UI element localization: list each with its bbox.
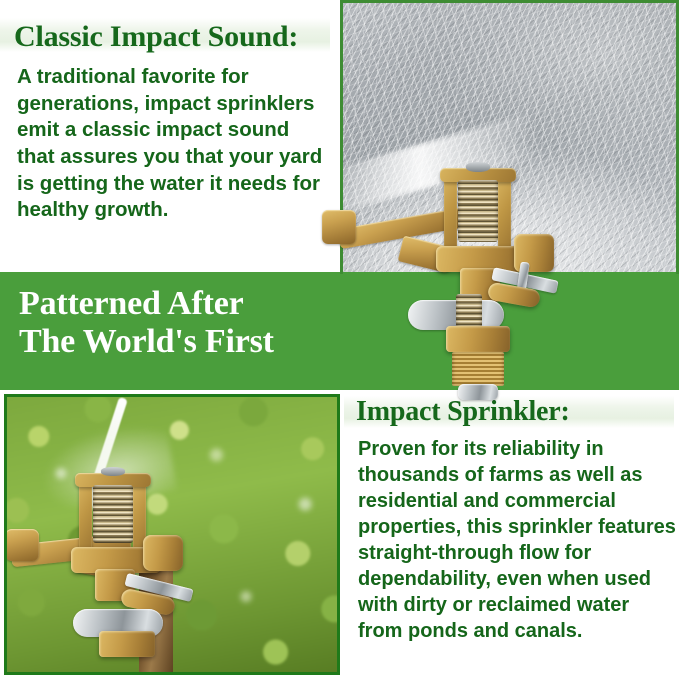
sprinkler-yoke-right bbox=[498, 176, 511, 250]
body-impact-sprinkler: Proven for its reliability in thousands … bbox=[358, 436, 678, 644]
sprinkler-threaded-base bbox=[452, 352, 504, 386]
banner-line-2: The World's First bbox=[19, 324, 274, 360]
sprinkler-arm-counterweight bbox=[322, 210, 356, 244]
sprinkler-lower-spring bbox=[456, 294, 482, 328]
brass-impact-sprinkler-garden bbox=[17, 457, 247, 667]
sprinkler-arm-counterweight bbox=[5, 529, 39, 561]
sprinkler-coil-spring bbox=[458, 180, 498, 242]
sprinkler-top-cap bbox=[466, 162, 490, 172]
product-feature-poster: Classic Impact Sound: A traditional favo… bbox=[0, 0, 679, 679]
sprinkler-top-cap bbox=[101, 467, 125, 476]
sprinkler-yoke-left bbox=[444, 176, 457, 250]
sprinkler-coil-spring bbox=[93, 485, 133, 543]
sprinkler-yoke-left bbox=[79, 481, 92, 551]
sprinkler-hex-nut bbox=[446, 326, 510, 352]
sprinkler-nozzle-block bbox=[143, 535, 183, 571]
banner-line-1: Patterned After bbox=[19, 286, 244, 322]
brass-impact-sprinkler-main bbox=[430, 150, 679, 400]
heading-classic-impact-sound: Classic Impact Sound: bbox=[14, 20, 298, 54]
sprinkler-hex-nut bbox=[99, 631, 155, 657]
sprinkler-base-washer bbox=[458, 384, 498, 400]
body-classic-impact-sound: A traditional favorite for generations, … bbox=[17, 64, 329, 224]
photo-sprinkler-in-garden bbox=[4, 394, 340, 675]
heading-impact-sprinkler: Impact Sprinkler: bbox=[356, 396, 570, 428]
feature-panel-impact-sprinkler: Impact Sprinkler: Proven for its reliabi… bbox=[344, 392, 679, 679]
feature-panel-classic-impact-sound: Classic Impact Sound: A traditional favo… bbox=[0, 0, 340, 272]
